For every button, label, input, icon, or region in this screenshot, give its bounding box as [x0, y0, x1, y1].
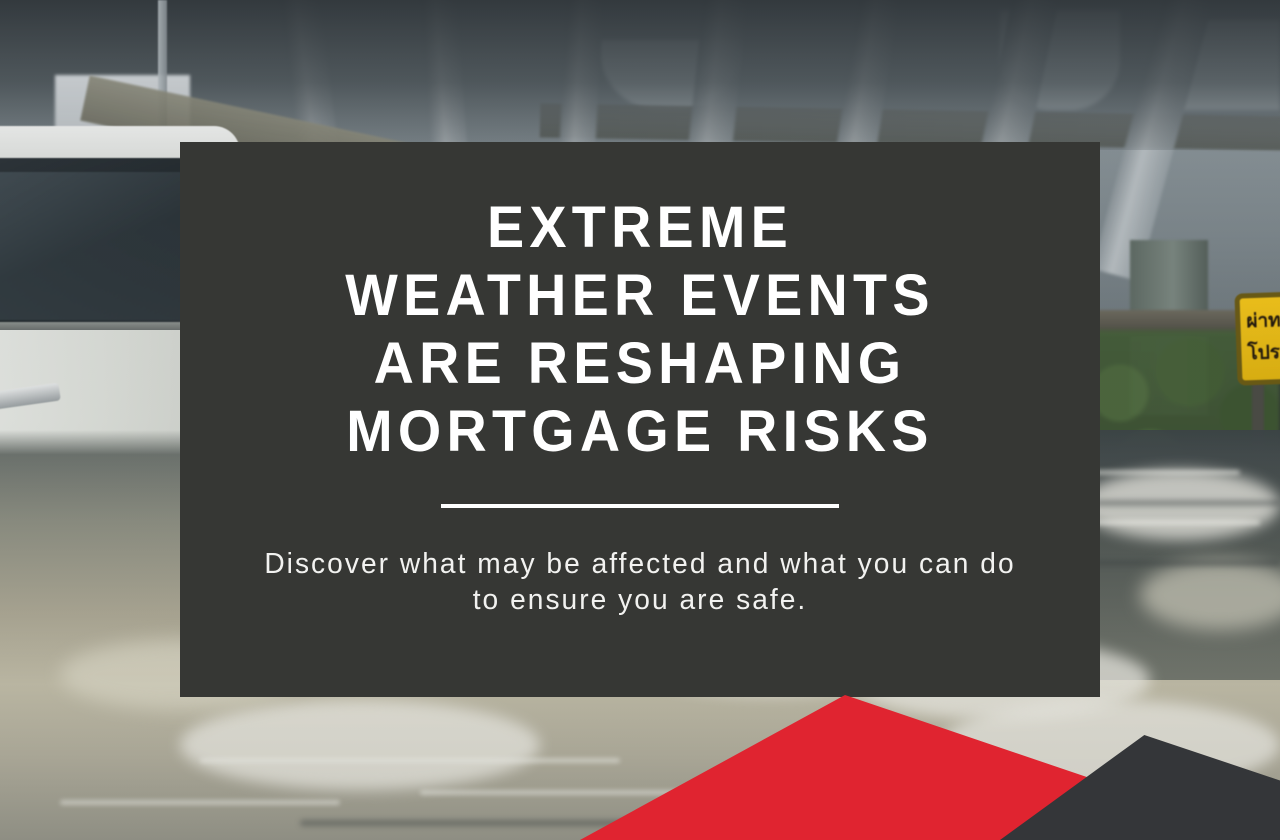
page-title: EXTREME WEATHER EVENTS ARE RESHAPING MOR…	[227, 194, 1053, 466]
headline-line-1: EXTREME	[227, 194, 1053, 262]
poster-canvas: ผ่าท โปรด EXTREME WEATHER EVENTS	[0, 0, 1280, 840]
sign-line-2: โปรด	[1247, 336, 1280, 369]
sign-line-1: ผ่าท	[1246, 304, 1280, 337]
headline-line-3: ARE RESHAPING	[227, 330, 1053, 398]
water-streak	[200, 758, 620, 763]
thai-warning-sign: ผ่าท โปรด	[1234, 290, 1280, 385]
content-panel: EXTREME WEATHER EVENTS ARE RESHAPING MOR…	[180, 142, 1100, 697]
title-divider	[441, 504, 839, 508]
water-streak	[60, 800, 340, 805]
headline-line-4: MORTGAGE RISKS	[227, 398, 1053, 466]
page-subtitle: Discover what may be affected and what y…	[257, 546, 1023, 618]
headline-line-2: WEATHER EVENTS	[227, 262, 1053, 330]
water-foam	[180, 700, 540, 790]
